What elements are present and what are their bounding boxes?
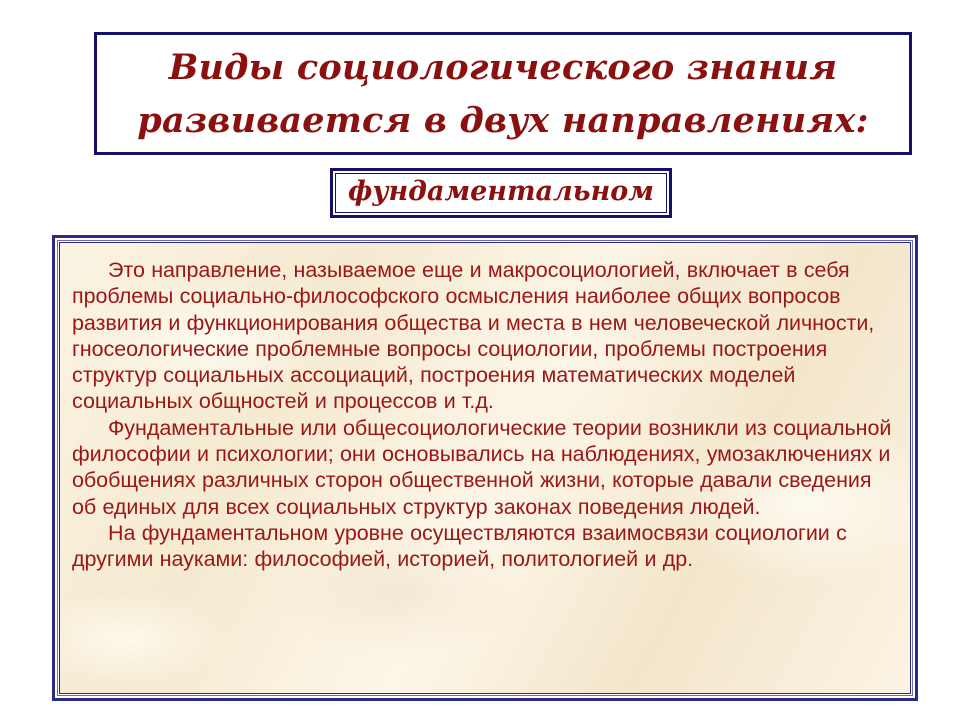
content-inner-panel: Это направление, называемое еще и макрос… — [59, 242, 911, 694]
content-paragraph-2: Фундаментальные или общесоциологические … — [72, 415, 892, 520]
slide-title-line-1: Виды социологического знания — [169, 50, 838, 85]
content-paragraph-3: На фундаментальном уровне осуществляются… — [72, 520, 892, 573]
slide-title-line-2: развивается в двух направлениях: — [137, 103, 868, 138]
title-box: Виды социологического знания развивается… — [94, 32, 912, 155]
subtitle-box: фундаментальном — [330, 168, 672, 218]
subtitle-label: фундаментальном — [348, 178, 654, 208]
content-paragraph-1: Это направление, называемое еще и макрос… — [72, 257, 892, 415]
content-middle-frame: Это направление, называемое еще и макрос… — [57, 240, 913, 696]
content-box: Это направление, называемое еще и макрос… — [52, 235, 918, 701]
subtitle-inner-frame: фундаментальном — [335, 173, 667, 213]
